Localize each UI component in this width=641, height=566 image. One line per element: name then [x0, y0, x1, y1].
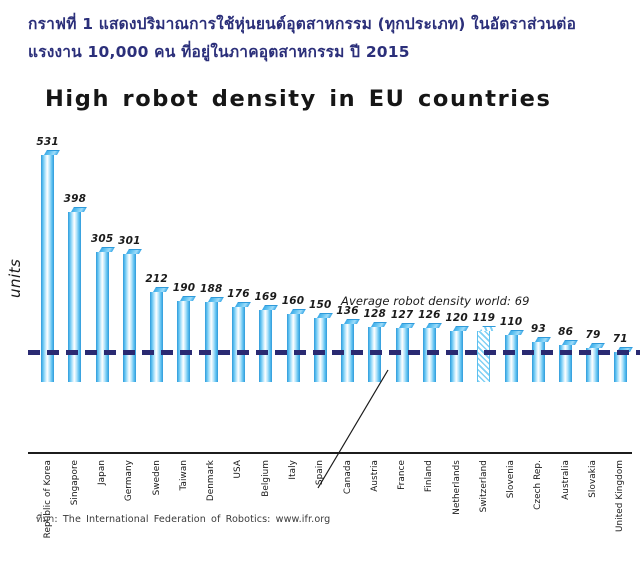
bar-slot[interactable]: 176 [225, 128, 252, 382]
bar-slot[interactable]: 301 [116, 128, 143, 382]
bar-slot[interactable]: 188 [198, 128, 225, 382]
category-slot: Singapore [61, 456, 88, 566]
category-label: Spain [315, 460, 325, 485]
category-label: United Kingdom [615, 460, 625, 532]
bar-slot[interactable]: 126 [416, 128, 443, 382]
bar-value-label: 305 [91, 233, 114, 245]
category-label: Netherlands [452, 460, 462, 515]
bar[interactable] [177, 296, 190, 382]
bar-value-label: 126 [418, 309, 441, 321]
bar[interactable] [205, 297, 218, 382]
bar-top-cap [99, 247, 115, 252]
average-annotation: Average robot density world: 69 [341, 294, 530, 308]
bar[interactable] [259, 305, 272, 382]
thai-header-line1: กราฟที่ 1 แสดงปริมาณการใช้หุ่นยนต์อุตสาห… [28, 10, 628, 38]
bar-slot[interactable]: 160 [279, 128, 306, 382]
bar-top-cap [371, 322, 387, 327]
bar-top-cap [426, 323, 442, 328]
bar-slot[interactable]: 71 [607, 128, 634, 382]
bar-slot[interactable]: 212 [143, 128, 170, 382]
bar-body [96, 252, 109, 382]
category-slot: Denmark [198, 456, 225, 566]
bar-value-label: 86 [558, 326, 573, 338]
source-note: ที่มา: The International Federation of R… [36, 512, 330, 527]
bar-value-label: 398 [64, 193, 87, 205]
bar-top-cap [589, 343, 605, 348]
category-label: Belgium [261, 460, 271, 497]
bar-value-label: 150 [309, 299, 332, 311]
category-slot: Australia [552, 456, 579, 566]
bar-slot[interactable]: 531 [34, 128, 61, 382]
bar-top-cap [235, 302, 251, 307]
y-axis-label: units [6, 259, 24, 298]
bar-value-label: 79 [585, 329, 600, 341]
category-label: Sweden [152, 460, 162, 495]
bar-value-label: 301 [118, 235, 141, 247]
bar[interactable] [68, 207, 81, 382]
bar-slot[interactable]: 127 [388, 128, 415, 382]
category-label: Czech Rep. [533, 460, 543, 510]
category-slot: Belgium [252, 456, 279, 566]
thai-header-line2: แรงงาน 10,000 คน ที่อยู่ในภาคอุตสาหกรรม … [28, 38, 628, 66]
category-label: Australia [561, 460, 571, 500]
plot-area: 5313983053012121901881761691601501361281… [34, 128, 634, 382]
bar-value-label: 176 [227, 288, 250, 300]
bar-top-cap [153, 287, 169, 292]
category-slot: Austria [361, 456, 388, 566]
bar-slot[interactable]: 136 [334, 128, 361, 382]
bar-body [423, 328, 436, 382]
bar[interactable] [96, 247, 109, 382]
bar[interactable] [287, 309, 300, 382]
category-label: Taiwan [179, 460, 189, 491]
category-label: Italy [288, 460, 298, 480]
category-slot: Switzerland [470, 456, 497, 566]
category-label: Canada [343, 460, 353, 494]
bar-top-cap [453, 326, 469, 331]
category-label: Singapore [70, 460, 80, 505]
average-line [28, 350, 640, 355]
category-slot: Taiwan [170, 456, 197, 566]
category-slot: United Kingdom [607, 456, 634, 566]
bar-top-cap [480, 326, 496, 331]
chart-card: High robot density in EU countries units… [0, 70, 641, 505]
bar-slot[interactable]: 93 [525, 128, 552, 382]
bar-value-label: 127 [391, 309, 414, 321]
bar-body [150, 292, 163, 382]
bar-slot[interactable]: 110 [498, 128, 525, 382]
category-label: Denmark [206, 460, 216, 501]
bar-slot[interactable]: 79 [579, 128, 606, 382]
category-slot: Republic of Korea [34, 456, 61, 566]
bar-body [532, 342, 545, 382]
bar-top-cap [399, 323, 415, 328]
bar[interactable] [505, 330, 518, 382]
category-slot: Italy [279, 456, 306, 566]
bar-body [68, 212, 81, 382]
bar-slot[interactable]: 190 [170, 128, 197, 382]
category-slot: Japan [89, 456, 116, 566]
bar-value-label: 120 [445, 312, 468, 324]
bar[interactable] [232, 302, 245, 382]
bar-slot[interactable]: 305 [89, 128, 116, 382]
bar-body [368, 327, 381, 382]
category-slot: Canada [334, 456, 361, 566]
category-slot: Germany [116, 456, 143, 566]
bar-value-label: 188 [200, 283, 223, 295]
category-label: USA [233, 460, 243, 479]
bar-body [123, 254, 136, 382]
bar[interactable] [41, 150, 54, 382]
category-label: Japan [97, 460, 107, 485]
chart-title: High robot density in EU countries [45, 86, 551, 112]
category-label: Slovenia [506, 460, 516, 498]
bar-body [450, 331, 463, 382]
bar-body [614, 352, 627, 382]
bar-top-cap [44, 150, 60, 155]
category-label: France [397, 460, 407, 490]
bar-value-label: 190 [173, 282, 196, 294]
category-slot: Slovenia [498, 456, 525, 566]
bar-body [232, 307, 245, 382]
bar-top-cap [126, 249, 142, 254]
bar-slot[interactable]: 86 [552, 128, 579, 382]
category-slot: Slovakia [579, 456, 606, 566]
bar-top-cap [508, 330, 524, 335]
bar-series: 5313983053012121901881761691601501361281… [34, 128, 634, 382]
category-slot: Spain [307, 456, 334, 566]
bar-value-label: 169 [254, 291, 277, 303]
category-slot: France [388, 456, 415, 566]
bar-top-cap [344, 319, 360, 324]
bar[interactable] [559, 340, 572, 382]
bar-body [477, 331, 490, 382]
category-slot: Finland [416, 456, 443, 566]
category-label: Switzerland [479, 460, 489, 512]
bar-slot[interactable]: 398 [61, 128, 88, 382]
bar-value-label: 71 [613, 333, 628, 345]
bar-top-cap [535, 337, 551, 342]
bar[interactable] [532, 337, 545, 382]
bar-body [505, 335, 518, 382]
bar-slot[interactable]: 120 [443, 128, 470, 382]
bar-slot[interactable]: 169 [252, 128, 279, 382]
bar-body [177, 301, 190, 382]
bar-top-cap [290, 309, 306, 314]
x-axis-line [28, 452, 632, 454]
bar-slot[interactable]: 119 [470, 128, 497, 382]
bar-top-cap [317, 313, 333, 318]
bar-value-label: 212 [145, 273, 168, 285]
bar-top-cap [180, 296, 196, 301]
bar-value-label: 93 [531, 323, 546, 335]
category-slot: Sweden [143, 456, 170, 566]
bar-value-label: 110 [500, 316, 523, 328]
bar-slot[interactable]: 128 [361, 128, 388, 382]
category-slot: Netherlands [443, 456, 470, 566]
x-axis-categories: Republic of KoreaSingaporeJapanGermanySw… [34, 456, 634, 566]
bar-body [287, 314, 300, 382]
bar[interactable] [123, 249, 136, 382]
category-slot: Czech Rep. [525, 456, 552, 566]
bar-value-label: 160 [282, 295, 305, 307]
bar-slot[interactable]: 150 [307, 128, 334, 382]
bar-value-label: 531 [36, 136, 59, 148]
bar-top-cap [208, 297, 224, 302]
bar[interactable] [314, 313, 327, 382]
category-label: Germany [124, 460, 134, 501]
bar-body [205, 302, 218, 382]
bar-value-label: 128 [364, 308, 387, 320]
bar-top-cap [71, 207, 87, 212]
bar-value-label: 119 [473, 312, 496, 324]
bar-top-cap [562, 340, 578, 345]
bar-top-cap [262, 305, 278, 310]
category-slot: USA [225, 456, 252, 566]
thai-header: กราฟที่ 1 แสดงปริมาณการใช้หุ่นยนต์อุตสาห… [28, 10, 628, 66]
bar[interactable] [150, 287, 163, 382]
category-label: Slovakia [588, 460, 598, 498]
bar-body [259, 310, 272, 382]
bar-body [41, 155, 54, 382]
category-label: Austria [370, 460, 380, 492]
bar-body [396, 328, 409, 382]
category-label: Finland [424, 460, 434, 492]
